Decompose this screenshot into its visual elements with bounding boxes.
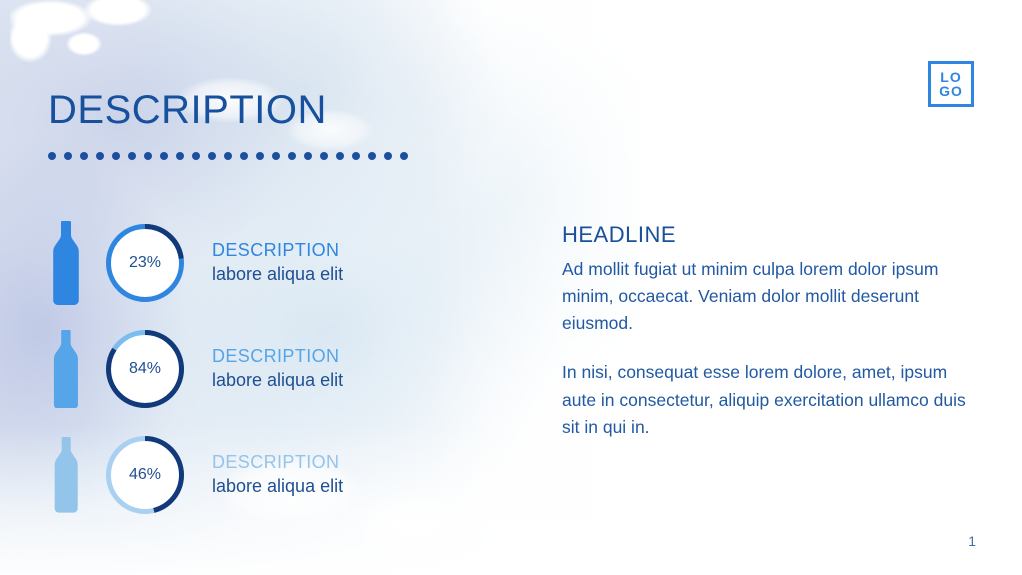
divider-dot <box>240 152 248 160</box>
divider-dot <box>400 152 408 160</box>
slide: DESCRIPTION 23%DESCRIPTIONlabore aliqua … <box>0 0 1022 575</box>
stat-title: DESCRIPTION <box>212 451 343 475</box>
divider-dot <box>304 152 312 160</box>
stat-row: 23%DESCRIPTIONlabore aliqua elit <box>40 218 343 308</box>
headline: HEADLINE <box>562 222 974 248</box>
stat-text: DESCRIPTIONlabore aliqua elit <box>212 239 343 287</box>
stat-text: DESCRIPTIONlabore aliqua elit <box>212 345 343 393</box>
divider-dot <box>64 152 72 160</box>
paragraph-one: Ad mollit fugiat ut minim culpa lorem do… <box>562 256 974 337</box>
divider-dot <box>336 152 344 160</box>
stat-title: DESCRIPTION <box>212 345 343 369</box>
divider-dot <box>224 152 232 160</box>
percent-label: 84% <box>106 330 184 408</box>
percent-ring: 46% <box>106 436 184 514</box>
stat-row: 84%DESCRIPTIONlabore aliqua elit <box>40 324 343 414</box>
logo[interactable]: LO GO <box>928 61 974 107</box>
divider-dot <box>352 152 360 160</box>
divider-dot <box>208 152 216 160</box>
divider-dot <box>144 152 152 160</box>
divider-dot <box>80 152 88 160</box>
logo-line-1: LO <box>940 70 961 84</box>
stat-subtitle: labore aliqua elit <box>212 369 343 393</box>
divider-dot <box>320 152 328 160</box>
divider-dot <box>128 152 136 160</box>
divider-dot <box>384 152 392 160</box>
divider-dot <box>160 152 168 160</box>
page-title: DESCRIPTION <box>48 88 327 133</box>
right-text-column: HEADLINE Ad mollit fugiat ut minim culpa… <box>562 222 974 441</box>
stat-title: DESCRIPTION <box>212 239 343 263</box>
divider-dot <box>176 152 184 160</box>
bottle-wrapper <box>40 330 92 409</box>
bottle-wrapper <box>40 437 92 513</box>
percent-ring: 23% <box>106 224 184 302</box>
stat-text: DESCRIPTIONlabore aliqua elit <box>212 451 343 499</box>
divider-dot <box>272 152 280 160</box>
divider-dot <box>48 152 56 160</box>
bottle-icon <box>48 221 84 305</box>
percent-ring: 84% <box>106 330 184 408</box>
percent-label: 23% <box>106 224 184 302</box>
dotted-divider <box>48 152 408 160</box>
stat-subtitle: labore aliqua elit <box>212 263 343 287</box>
stat-row: 46%DESCRIPTIONlabore aliqua elit <box>40 430 343 520</box>
divider-dot <box>192 152 200 160</box>
stats-list: 23%DESCRIPTIONlabore aliqua elit84%DESCR… <box>40 218 343 536</box>
divider-dot <box>256 152 264 160</box>
bottle-icon <box>50 437 82 513</box>
divider-dot <box>368 152 376 160</box>
logo-line-2: GO <box>939 84 963 98</box>
divider-dot <box>96 152 104 160</box>
divider-dot <box>288 152 296 160</box>
percent-label: 46% <box>106 436 184 514</box>
page-number: 1 <box>968 533 976 549</box>
divider-dot <box>112 152 120 160</box>
paragraph-two: In nisi, consequat esse lorem dolore, am… <box>562 359 974 440</box>
bottle-icon <box>49 330 83 409</box>
stat-subtitle: labore aliqua elit <box>212 475 343 499</box>
bottle-wrapper <box>40 221 92 305</box>
